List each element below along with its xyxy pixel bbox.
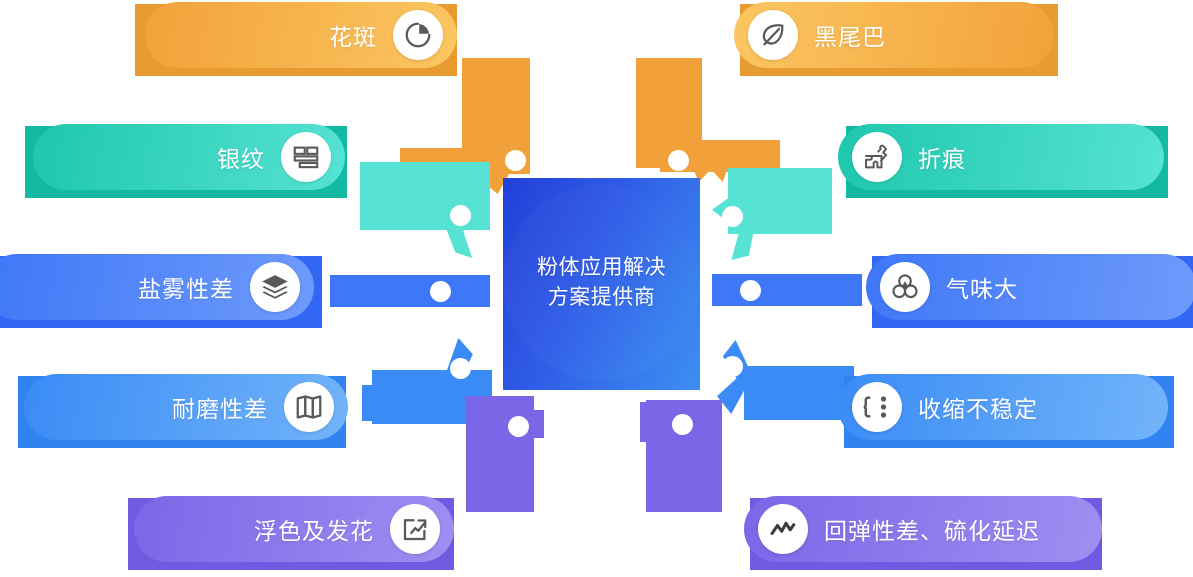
- node-pill-fu-se-ji-fa-hua[interactable]: 浮色及发花: [134, 496, 454, 562]
- connector-dot: [508, 416, 529, 437]
- open-book-icon: [284, 382, 334, 432]
- line-chart-icon: [758, 504, 808, 554]
- brick-wall-icon: [281, 132, 331, 182]
- center-hub-circle: 粉体应用解决 方案提供商: [503, 184, 700, 381]
- node-pill-hei-wei-ba[interactable]: 黑尾巴: [734, 2, 1054, 68]
- node-label: 花斑: [329, 18, 377, 52]
- node-pill-nai-mo-xing-cha[interactable]: 耐磨性差: [24, 374, 348, 440]
- node-pill-yan-wu-xing-cha[interactable]: 盐雾性差: [0, 254, 314, 320]
- node-label: 黑尾巴: [814, 18, 886, 52]
- connector-dot: [672, 414, 693, 435]
- connector-dot: [668, 150, 689, 171]
- node-label: 银纹: [217, 140, 265, 174]
- node-pill-qi-wei-da[interactable]: 气味大: [866, 254, 1193, 320]
- node-label: 收缩不稳定: [918, 390, 1038, 424]
- connector-dot: [450, 205, 471, 226]
- center-hub-title: 粉体应用解决 方案提供商: [537, 253, 666, 313]
- node-pill-hua-ban[interactable]: 花斑: [145, 2, 457, 68]
- node-label: 盐雾性差: [138, 270, 234, 304]
- recycle-icon: [880, 262, 930, 312]
- pie-chart-icon: [393, 10, 443, 60]
- connector-bar: [330, 275, 490, 307]
- node-label: 浮色及发花: [254, 512, 374, 546]
- connector-bar: [362, 385, 398, 421]
- node-label: 回弹性差、硫化延迟: [824, 512, 1040, 546]
- node-label: 耐磨性差: [172, 390, 268, 424]
- center-hub: 粉体应用解决 方案提供商: [503, 178, 700, 390]
- node-tree-icon: [852, 382, 902, 432]
- node-label: 折痕: [918, 140, 966, 174]
- connector-bar: [712, 274, 862, 306]
- trend-up-box-icon: [390, 504, 440, 554]
- node-pill-shou-suo-bu-wen-ding[interactable]: 收缩不稳定: [838, 374, 1168, 440]
- connector-dot: [430, 281, 451, 302]
- layers-icon: [250, 262, 300, 312]
- connector-dot: [450, 358, 471, 379]
- puzzle-piece-icon: [852, 132, 902, 182]
- leaf-icon: [748, 10, 798, 60]
- node-pill-hui-tan-xing-cha[interactable]: 回弹性差、硫化延迟: [744, 496, 1102, 562]
- infographic-canvas: 粉体应用解决 方案提供商 花斑 银纹 盐雾性差: [0, 0, 1193, 577]
- node-pill-zhe-hen[interactable]: 折痕: [838, 124, 1164, 190]
- node-pill-yin-wen[interactable]: 银纹: [33, 124, 345, 190]
- connector-dot: [740, 280, 761, 301]
- connector-dot: [722, 356, 743, 377]
- connector-dot: [722, 206, 743, 227]
- node-label: 气味大: [946, 270, 1018, 304]
- connector-dot: [505, 150, 526, 171]
